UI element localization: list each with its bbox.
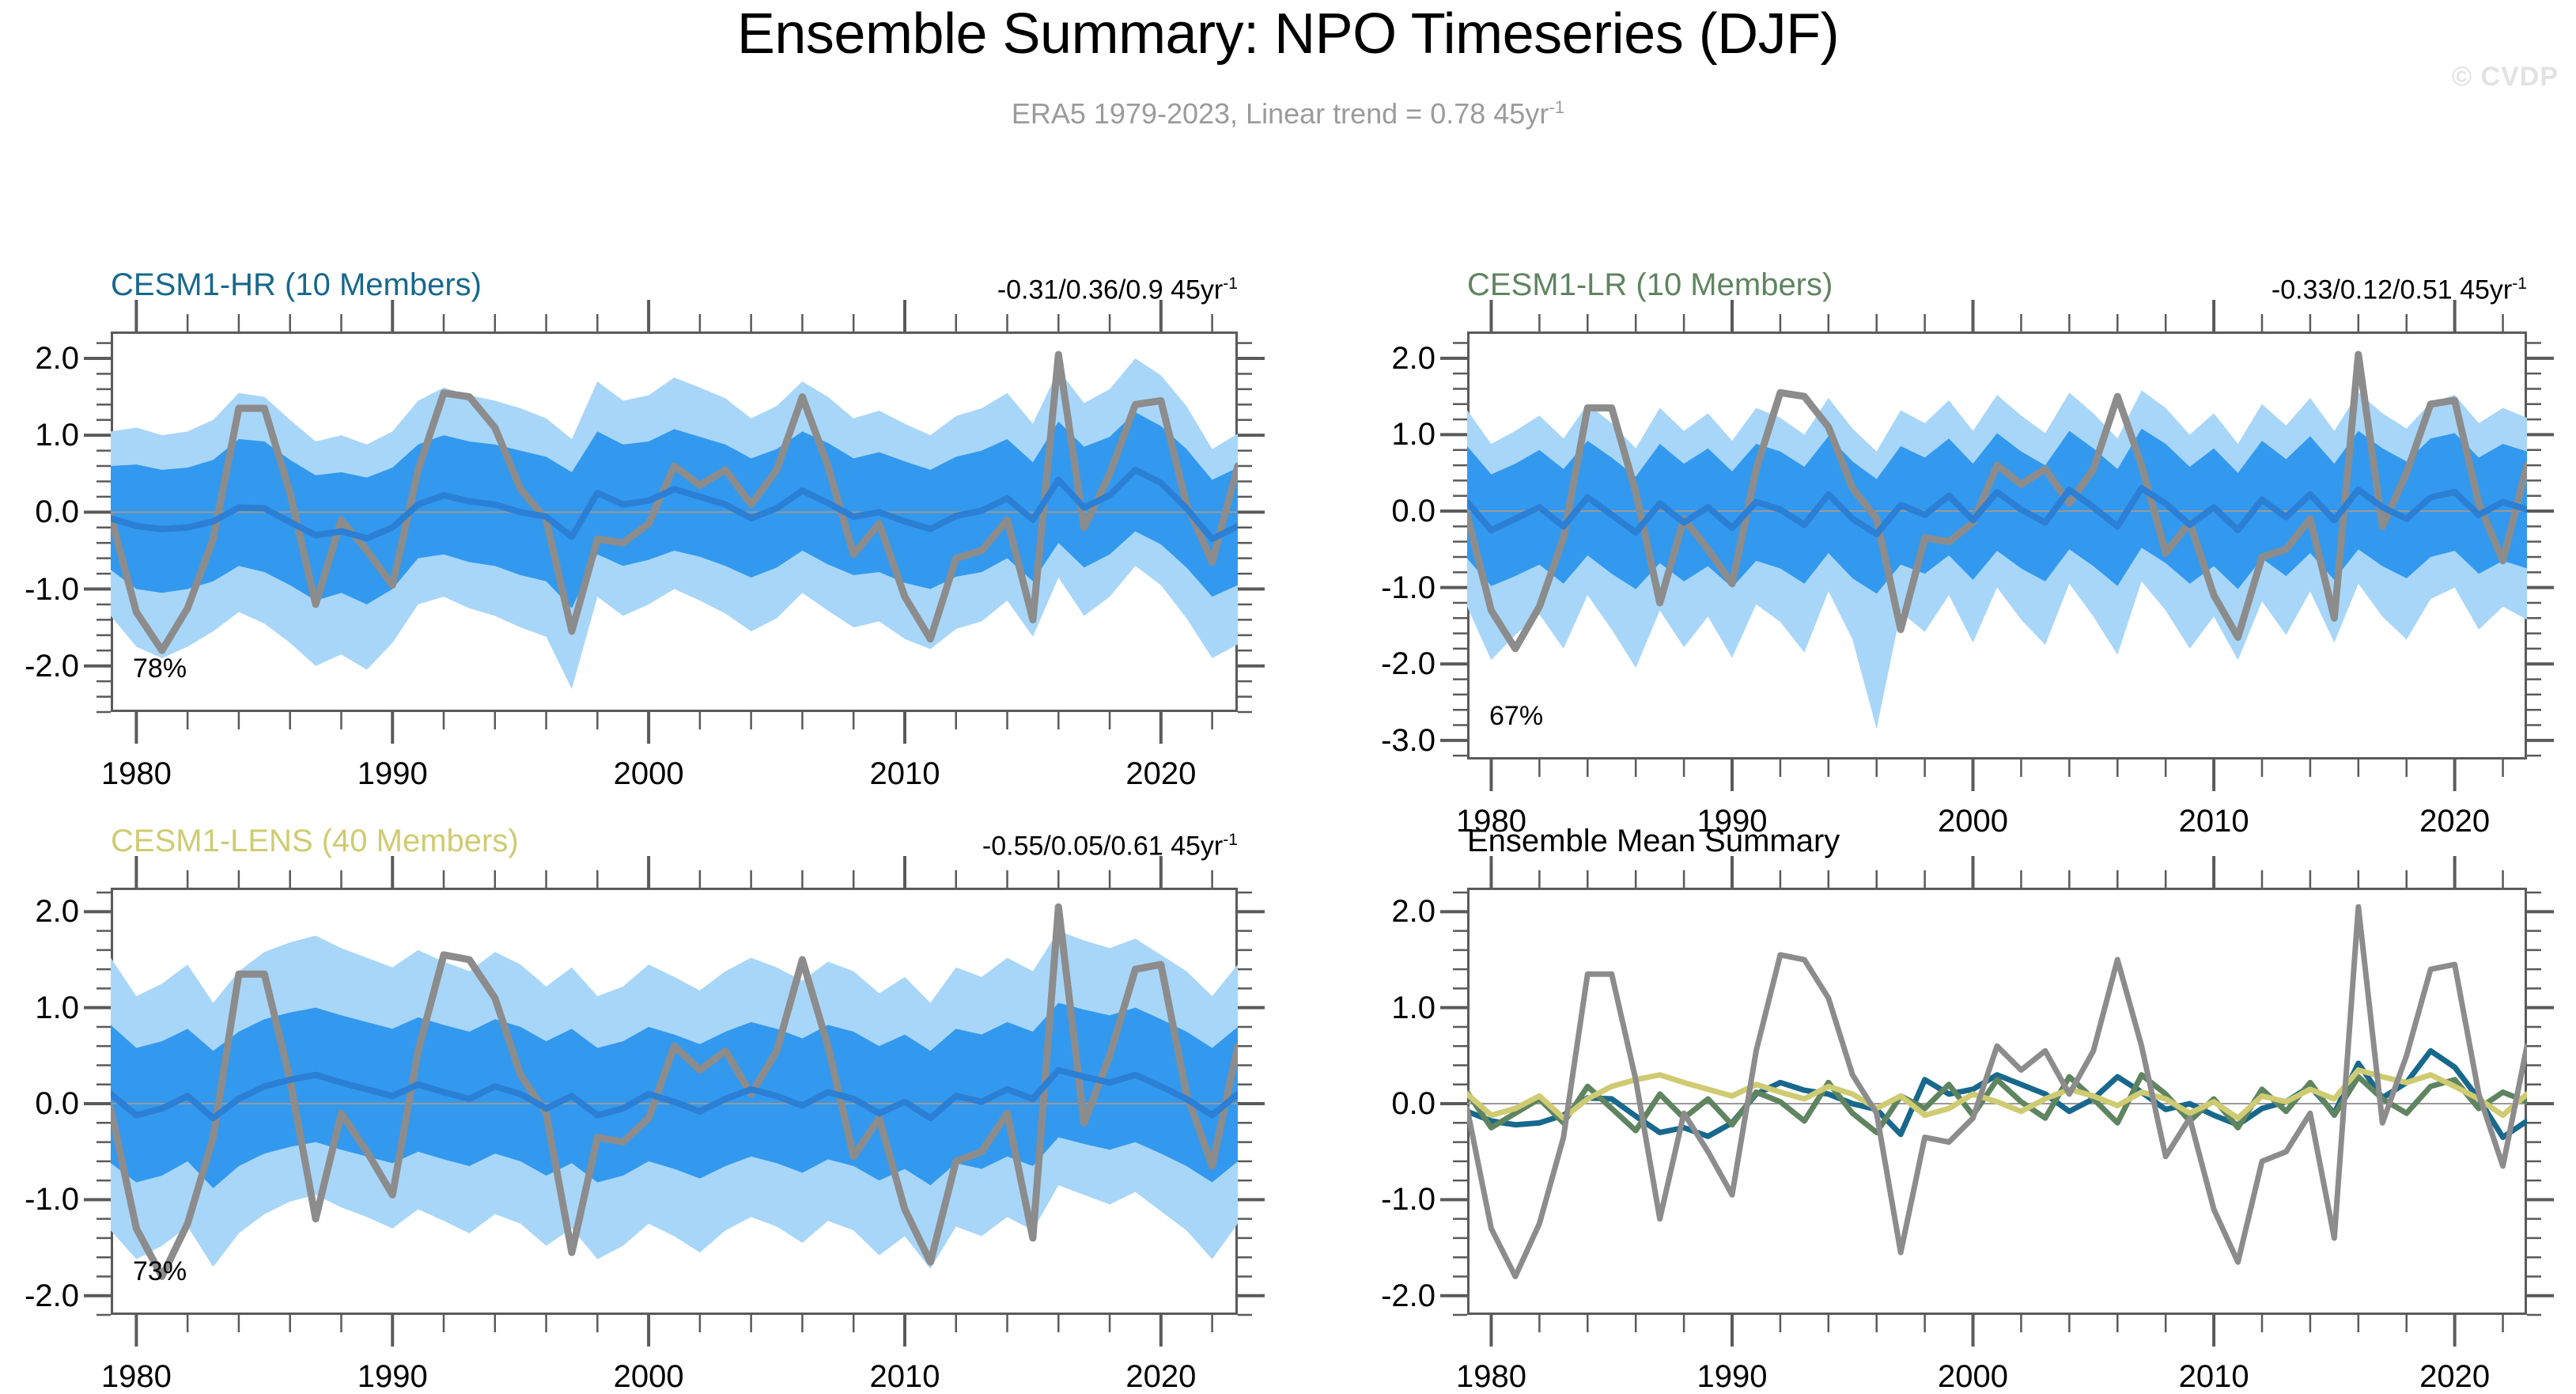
ytick-label-cesm1-hr: 0.0 — [0, 496, 79, 528]
ytick-label-cesm1-lens: -1.0 — [0, 1184, 79, 1215]
xtick-label-cesm1-hr: 2010 — [869, 758, 940, 790]
figure-subtitle-exponent: -1 — [1549, 97, 1564, 117]
xtick-label-cesm1-lr: 2010 — [2179, 805, 2249, 837]
xtick-label-cesm1-lens: 1990 — [357, 1361, 428, 1392]
panel-title-ensemble-mean-summary: Ensemble Mean Summary — [1467, 825, 1840, 857]
plot-area-cesm1-lens — [111, 888, 1238, 1315]
panel-trend-cesm1-hr: -0.31/0.36/0.9 45yr-1 — [684, 275, 1238, 303]
xtick-label-cesm1-lr: 2020 — [2419, 805, 2490, 837]
ytick-label-cesm1-lr: 0.0 — [1285, 495, 1436, 527]
xtick-label-ensemble-mean-summary: 2020 — [2419, 1361, 2490, 1392]
xtick-label-cesm1-hr: 2020 — [1125, 758, 1196, 790]
ytick-label-ensemble-mean-summary: -2.0 — [1285, 1280, 1436, 1312]
panel-title-cesm1-hr: CESM1-HR (10 Members) — [111, 269, 482, 301]
trend-value: -0.33/0.12/0.51 45yr — [2271, 275, 2512, 305]
panel-trend-cesm1-lr: -0.33/0.12/0.51 45yr-1 — [1973, 275, 2527, 303]
page-title: Ensemble Summary: NPO Timeseries (DJF) — [0, 5, 2576, 65]
ytick-label-cesm1-hr: 2.0 — [0, 343, 79, 374]
trend-value: -0.55/0.05/0.61 45yr — [982, 831, 1223, 861]
ytick-label-cesm1-lr: 2.0 — [1285, 343, 1436, 374]
obs-within-pct-cesm1-lr: 67% — [1489, 703, 1543, 729]
ytick-label-cesm1-lens: 2.0 — [0, 896, 79, 927]
panel-trend-cesm1-lens: -0.55/0.05/0.61 45yr-1 — [684, 831, 1238, 859]
ytick-label-cesm1-hr: 1.0 — [0, 419, 79, 451]
plot-area-cesm1-lr — [1467, 331, 2527, 760]
xtick-label-ensemble-mean-summary: 1990 — [1697, 1361, 1768, 1392]
panel-title-cesm1-lr: CESM1-LR (10 Members) — [1467, 269, 1833, 301]
ytick-label-ensemble-mean-summary: 1.0 — [1285, 992, 1436, 1024]
xtick-label-cesm1-lr: 2000 — [1938, 805, 2008, 837]
ytick-label-cesm1-lr: -3.0 — [1285, 725, 1436, 756]
trend-exponent: -1 — [1223, 831, 1238, 849]
ytick-label-ensemble-mean-summary: 2.0 — [1285, 896, 1436, 927]
trend-exponent: -1 — [2512, 275, 2527, 293]
ytick-label-cesm1-lens: 0.0 — [0, 1088, 79, 1119]
ytick-label-cesm1-lens: -2.0 — [0, 1280, 79, 1312]
xtick-label-cesm1-hr: 1990 — [357, 758, 428, 790]
ytick-label-ensemble-mean-summary: -1.0 — [1285, 1184, 1436, 1215]
ytick-label-cesm1-lr: 1.0 — [1285, 419, 1436, 450]
xtick-label-cesm1-hr: 1980 — [101, 758, 172, 790]
xtick-label-cesm1-lens: 2010 — [869, 1361, 940, 1392]
trend-exponent: -1 — [1223, 275, 1238, 293]
panel-title-cesm1-lens: CESM1-LENS (40 Members) — [111, 825, 519, 857]
ytick-label-cesm1-lr: -2.0 — [1285, 648, 1436, 680]
trend-value: -0.31/0.36/0.9 45yr — [997, 275, 1223, 305]
xtick-label-cesm1-lens: 2020 — [1125, 1361, 1196, 1392]
plot-area-cesm1-hr — [111, 331, 1238, 712]
cvdp-watermark: © CVDP — [2452, 62, 2559, 93]
ytick-label-cesm1-hr: -1.0 — [0, 574, 79, 605]
ytick-label-cesm1-hr: -2.0 — [0, 650, 79, 682]
xtick-label-cesm1-hr: 2000 — [614, 758, 684, 790]
xtick-label-cesm1-lens: 1980 — [101, 1361, 172, 1392]
obs-within-pct-cesm1-lens: 73% — [133, 1258, 187, 1285]
ytick-label-cesm1-lens: 1.0 — [0, 992, 79, 1024]
xtick-label-ensemble-mean-summary: 2010 — [2179, 1361, 2249, 1392]
plot-area-ensemble-mean-summary — [1467, 888, 2527, 1315]
figure-subtitle: ERA5 1979-2023, Linear trend = 0.78 45yr… — [0, 98, 2576, 129]
xtick-label-ensemble-mean-summary: 1980 — [1456, 1361, 1526, 1392]
ytick-label-ensemble-mean-summary: 0.0 — [1285, 1088, 1436, 1119]
figure-title-text: Ensemble Summary: NPO Timeseries (DJF) — [737, 2, 1839, 66]
xtick-label-ensemble-mean-summary: 2000 — [1938, 1361, 2008, 1392]
obs-within-pct-cesm1-hr: 78% — [133, 655, 187, 682]
figure-subtitle-text: ERA5 1979-2023, Linear trend = 0.78 45yr — [1012, 97, 1549, 130]
xtick-label-cesm1-lens: 2000 — [614, 1361, 684, 1392]
ytick-label-cesm1-lr: -1.0 — [1285, 572, 1436, 604]
